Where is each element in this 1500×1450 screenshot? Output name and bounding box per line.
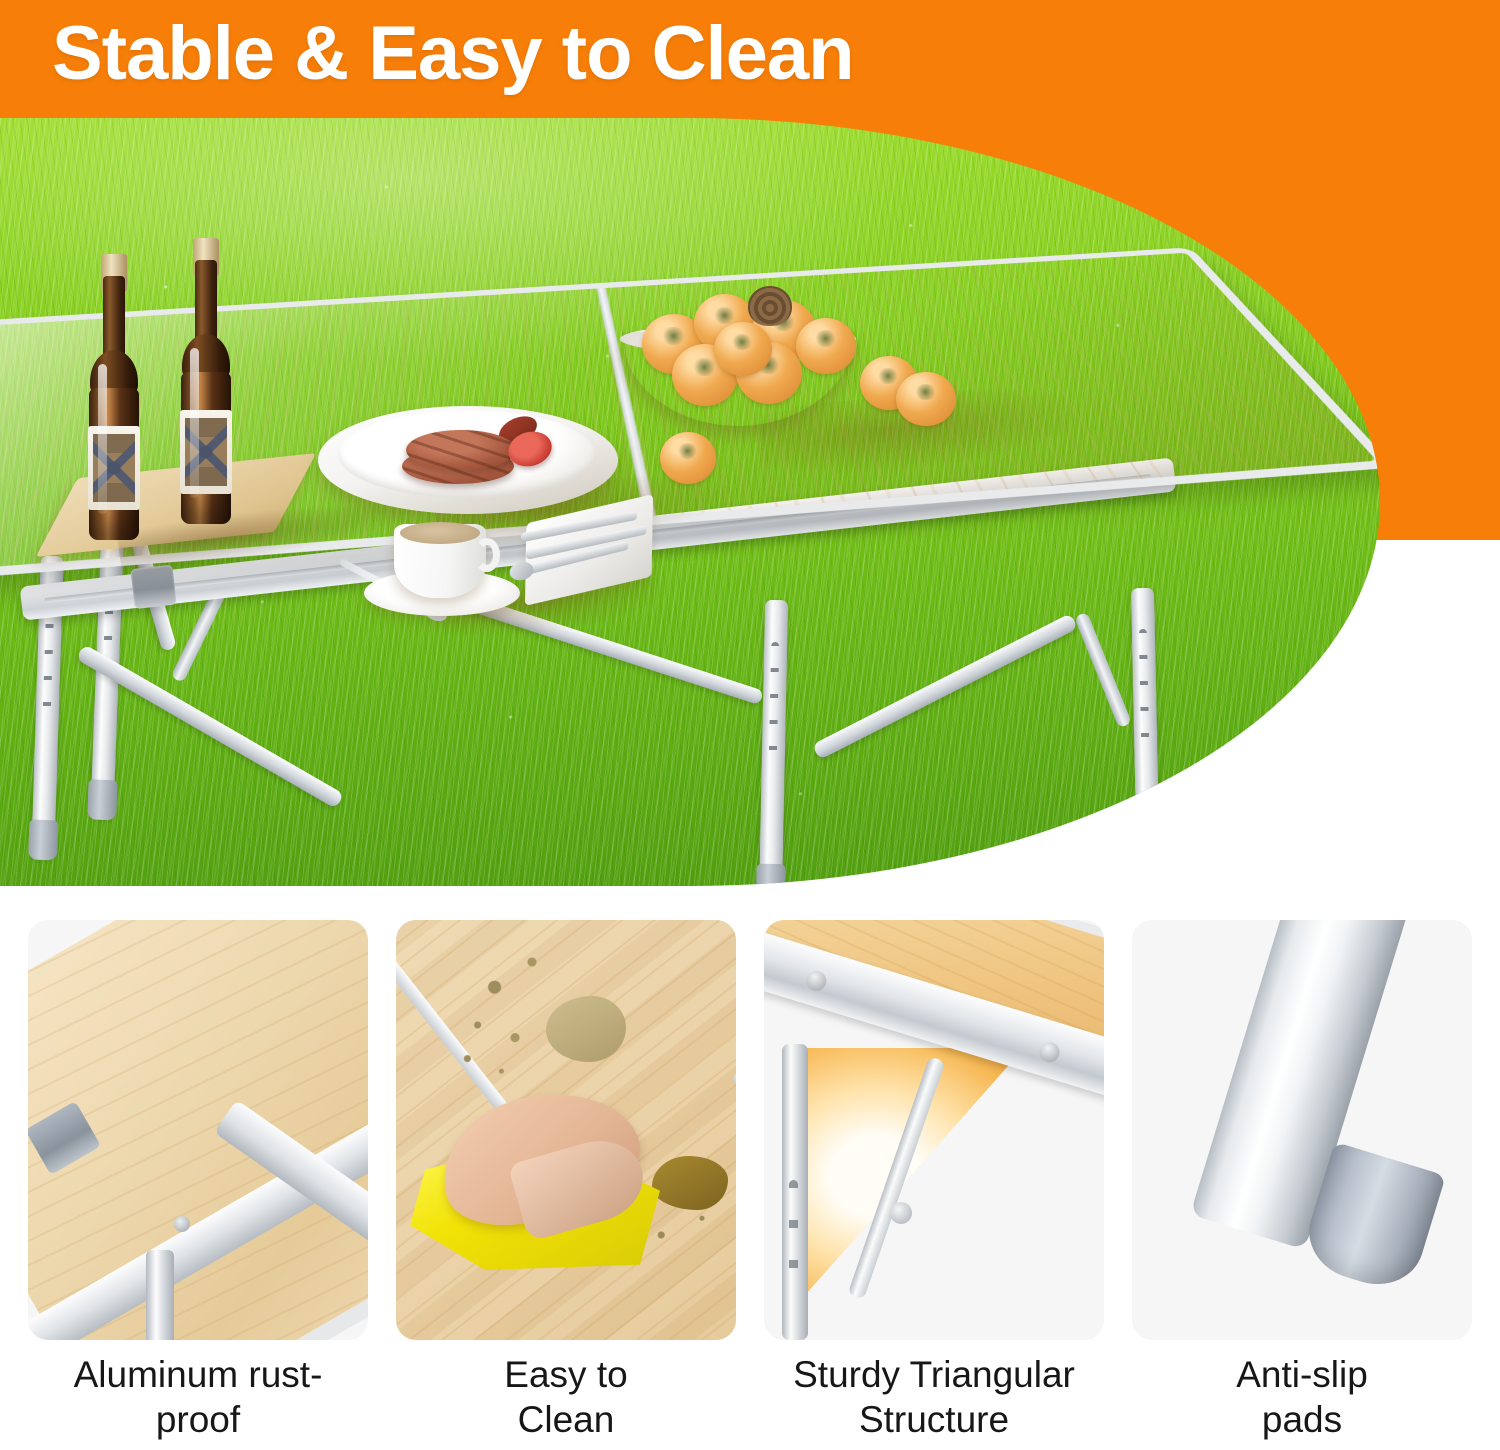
feature-thumbnail-row bbox=[28, 920, 1472, 1340]
table-leg-back-right bbox=[1131, 588, 1160, 878]
thumb-triangular-brace-corner[interactable] bbox=[764, 920, 1104, 1340]
screw-icon bbox=[174, 1216, 190, 1232]
bottle-highlight bbox=[190, 348, 199, 498]
rivet-icon bbox=[890, 1202, 912, 1224]
table-leg-front-right bbox=[759, 600, 788, 886]
thumb-hand-wiping-spill-yellow-cloth[interactable] bbox=[396, 920, 736, 1340]
thumb-leg-anti-slip-cap[interactable] bbox=[1132, 920, 1472, 1340]
thumb-table-corner-aluminum-edge[interactable] bbox=[28, 920, 368, 1340]
caption-easy-clean: Easy toClean bbox=[396, 1352, 736, 1450]
persimmon-loose bbox=[896, 372, 956, 426]
table-leg bbox=[146, 1250, 174, 1340]
table-bracket-right bbox=[1074, 612, 1132, 729]
screw-icon bbox=[1037, 1040, 1062, 1065]
table-crossbar-right bbox=[812, 613, 1078, 760]
persimmon bbox=[714, 322, 772, 376]
height-adjust-holes-icon bbox=[789, 1180, 798, 1290]
persimmon bbox=[796, 318, 856, 374]
caption-triangular: Sturdy TriangularStructure bbox=[764, 1352, 1104, 1450]
pine-cone bbox=[748, 286, 792, 326]
burger-patty-upper bbox=[406, 430, 516, 470]
anti-slip-foot-cap bbox=[87, 779, 118, 820]
bottle-label bbox=[180, 410, 232, 494]
caption-rust-proof: Aluminum rust-proof bbox=[28, 1352, 368, 1450]
anti-slip-foot-cap bbox=[756, 864, 786, 886]
bottle-label bbox=[88, 426, 140, 510]
spill-stain-upper bbox=[546, 996, 626, 1062]
triangular-brace-glow bbox=[792, 1048, 1024, 1294]
page-title: Stable & Easy to Clean bbox=[52, 16, 854, 92]
anti-slip-foot-cap bbox=[1133, 842, 1163, 883]
aluminum-folding-table bbox=[0, 118, 1380, 886]
spill-stain-lower bbox=[652, 1156, 728, 1210]
screw-icon bbox=[804, 969, 829, 994]
coffee-liquid bbox=[400, 522, 480, 544]
height-adjust-holes-icon bbox=[769, 642, 780, 768]
height-adjust-holes-icon bbox=[1139, 629, 1150, 751]
hero-product-image bbox=[0, 118, 1380, 886]
coffee-cup-handle bbox=[474, 538, 500, 572]
caption-anti-slip: Anti-slippads bbox=[1132, 1352, 1472, 1450]
anti-slip-foot-cap bbox=[28, 819, 58, 860]
bottle-highlight bbox=[98, 364, 107, 514]
feature-caption-row: Aluminum rust-proof Easy toClean Sturdy … bbox=[28, 1352, 1472, 1450]
persimmon-loose bbox=[660, 432, 716, 484]
